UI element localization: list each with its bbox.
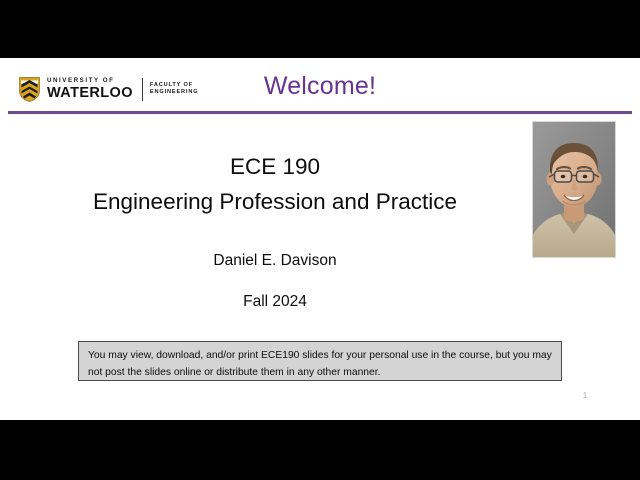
video-player-frame: UNIVERSITY OF WATERLOO FACULTY OF ENGINE… xyxy=(0,0,640,480)
course-code: ECE 190 xyxy=(30,154,520,180)
slide-header: UNIVERSITY OF WATERLOO FACULTY OF ENGINE… xyxy=(0,58,640,114)
instructor-portrait-photo xyxy=(533,122,615,257)
letterbox-bar-top xyxy=(0,0,640,58)
term-label: Fall 2024 xyxy=(30,293,520,311)
copyright-disclaimer-box: You may view, download, and/or print ECE… xyxy=(78,341,562,381)
slide-title: Welcome! xyxy=(0,72,640,101)
letterbox-bar-bottom xyxy=(0,420,640,480)
header-divider-rule xyxy=(8,111,632,114)
course-name: Engineering Profession and Practice xyxy=(30,189,520,215)
slide-page-number: 1 xyxy=(570,391,600,400)
instructor-name: Daniel E. Davison xyxy=(30,252,520,270)
presentation-slide: UNIVERSITY OF WATERLOO FACULTY OF ENGINE… xyxy=(0,58,640,420)
copyright-disclaimer-text: You may view, download, and/or print ECE… xyxy=(88,347,552,382)
